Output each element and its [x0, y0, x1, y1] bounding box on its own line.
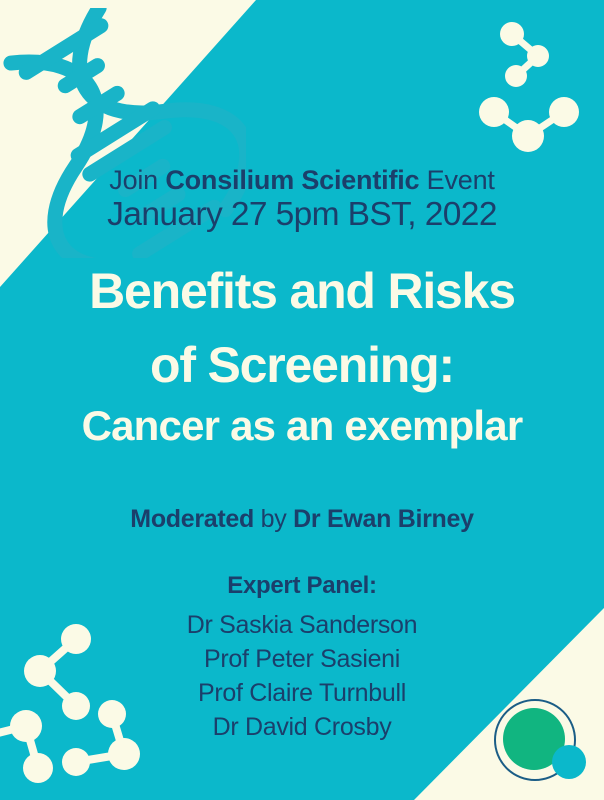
event-poster: Join Consilium Scientific Event January … — [0, 0, 604, 800]
eyebrow-lead: Join — [109, 165, 165, 195]
panelist-name: Dr Saskia Sanderson — [0, 613, 604, 638]
panelist-name: Prof Peter Sasieni — [0, 647, 604, 672]
eyebrow-trail: Event — [419, 165, 494, 195]
page-subtitle: Cancer as an exemplar — [0, 405, 604, 447]
moderator-line: Moderated by Dr Ewan Birney — [0, 507, 604, 532]
brand-name: Consilium Scientific — [165, 165, 419, 195]
page-title-line2: of Screening: — [0, 340, 604, 390]
page-title-line1: Benefits and Risks — [0, 266, 604, 316]
panelist-name: Prof Claire Turnbull — [0, 681, 604, 706]
moderator-name: Dr Ewan Birney — [293, 505, 474, 533]
panelist-name: Dr David Crosby — [0, 715, 604, 740]
moderator-label: Moderated — [130, 505, 254, 533]
event-datetime: January 27 5pm BST, 2022 — [0, 198, 604, 232]
poster-content: Join Consilium Scientific Event January … — [0, 0, 604, 800]
expert-panel-heading: Expert Panel: — [0, 574, 604, 598]
moderator-connector: by — [254, 505, 293, 533]
event-eyebrow: Join Consilium Scientific Event — [0, 167, 604, 194]
